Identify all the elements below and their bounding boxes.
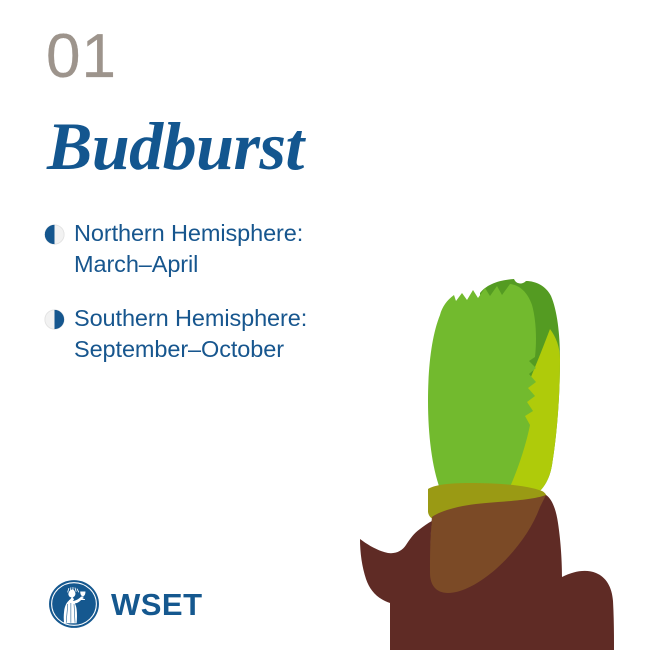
step-number: 01 — [46, 26, 117, 88]
budburst-info-card: 01 Budburst Northern Hemisphere: March–A… — [0, 0, 650, 650]
list-item-text: Southern Hemisphere: September–October — [74, 303, 307, 366]
grapevine-budburst-illustration — [330, 255, 650, 650]
hemisphere-label: Northern Hemisphere: — [74, 220, 303, 246]
hemisphere-northern-icon — [44, 224, 65, 245]
list-item-text: Northern Hemisphere: March–April — [74, 218, 303, 281]
page-title: Budburst — [47, 112, 304, 180]
hemisphere-southern-icon — [44, 309, 65, 330]
wset-wordmark: WSET — [111, 589, 203, 620]
hemisphere-label: Southern Hemisphere: — [74, 305, 307, 331]
wset-figure-icon — [48, 578, 100, 630]
hemisphere-value: September–October — [74, 334, 307, 365]
hemisphere-value: March–April — [74, 249, 303, 280]
wset-logo: WSET — [48, 578, 203, 630]
